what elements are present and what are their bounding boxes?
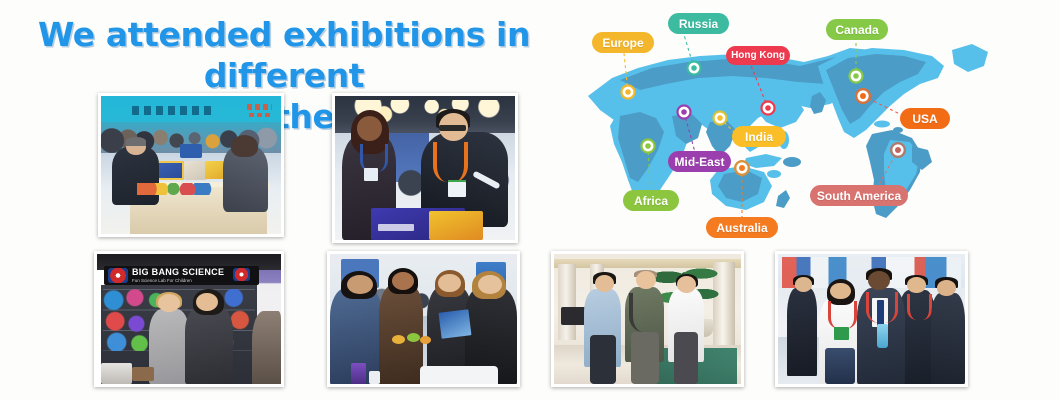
map-island-2 (767, 170, 781, 178)
booth-sign-subtitle: Fun Science Lab For Children (132, 277, 213, 284)
map-greenland (952, 44, 988, 72)
photo-image-group-discussion-booth (330, 254, 517, 384)
photo-image-hotel-lobby-group (554, 254, 741, 384)
marker-usa (856, 89, 870, 103)
photo-card-hotel-lobby-group[interactable] (551, 251, 744, 387)
photo-image-exhibition-table-meeting (101, 96, 281, 234)
marker-australia (735, 161, 749, 175)
marker-mid-east (678, 106, 691, 119)
map-island-1 (783, 157, 801, 167)
map-caribbean-1 (874, 121, 890, 128)
map-label-hong-kong[interactable]: Hong Kong (726, 46, 790, 65)
photo-card-group-discussion-booth[interactable] (327, 251, 520, 387)
map-label-mid-east[interactable]: Mid-East (668, 151, 731, 172)
photo-image-booth-product-demo (335, 96, 515, 240)
map-label-india[interactable]: India (732, 126, 786, 147)
map-label-usa[interactable]: USA (900, 108, 950, 129)
marker-africa (642, 140, 655, 153)
marker-europe (622, 86, 635, 99)
booth-sign-title: BIG BANG SCIENCE (132, 268, 217, 277)
marker-south-america (891, 143, 905, 157)
photo-card-trade-show-visitors[interactable] (775, 251, 968, 387)
photo-card-booth-product-demo[interactable] (332, 93, 518, 243)
map-label-africa[interactable]: Africa (623, 190, 679, 211)
map-label-canada[interactable]: Canada (826, 19, 888, 40)
banner-root: We attended exhibitions in different par… (0, 0, 1060, 400)
photo-image-big-bang-science-booth: BIG BANG SCIENCE Fun Science Lab For Chi… (97, 254, 281, 384)
photo-card-big-bang-science-booth[interactable]: BIG BANG SCIENCE Fun Science Lab For Chi… (94, 251, 284, 387)
map-label-europe[interactable]: Europe (592, 32, 654, 53)
headline-line-1: We attended exhibitions in different (38, 15, 530, 95)
marker-russia (688, 62, 701, 75)
map-new-zealand (776, 190, 790, 208)
marker-india (714, 112, 727, 125)
booth-logo-icon (108, 268, 128, 282)
photo-image-trade-show-visitors (778, 254, 965, 384)
world-map[interactable]: Europe Russia Hong Kong Canada USA India… (560, 0, 1060, 250)
marker-canada (850, 70, 863, 83)
marker-hong-kong (762, 102, 775, 115)
booth-logo-secondary-icon (233, 268, 250, 281)
map-label-south-america[interactable]: South America (810, 185, 908, 206)
map-label-russia[interactable]: Russia (668, 13, 729, 34)
map-label-australia[interactable]: Australia (706, 217, 778, 238)
photo-card-exhibition-table-meeting[interactable] (98, 93, 284, 237)
